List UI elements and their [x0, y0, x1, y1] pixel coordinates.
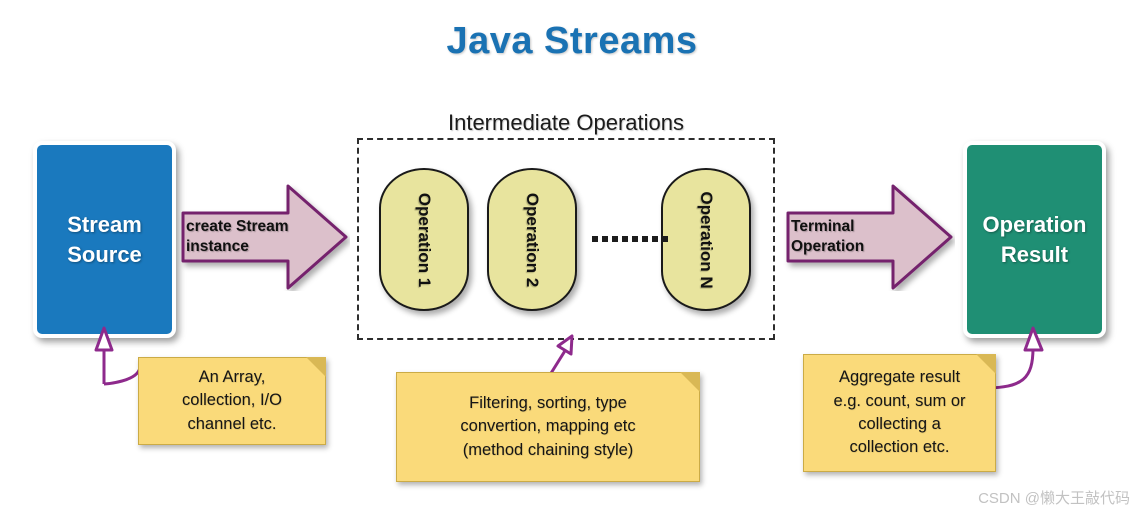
operation-capsule-label: Operation 1: [414, 192, 434, 286]
ellipsis-dot: [632, 236, 638, 242]
watermark: CSDN @懒大王敲代码: [978, 487, 1130, 508]
ellipsis-dot: [642, 236, 648, 242]
sticky-note-intermediate: Filtering, sorting, type convertion, map…: [396, 372, 700, 482]
terminal-operation-arrow-line2: Operation: [791, 237, 909, 257]
note-fold-corner-icon: [976, 354, 996, 374]
ellipsis-dot: [602, 236, 608, 242]
sticky-note-intermediate-text: Filtering, sorting, type convertion, map…: [460, 392, 635, 462]
stream-source-line2: Source: [67, 240, 142, 270]
note-fold-corner-icon: [680, 372, 700, 392]
operation-capsule-label: Operation N: [696, 191, 716, 288]
operation-result-line2: Result: [983, 240, 1087, 270]
note-line: (method chaining style): [460, 439, 635, 462]
create-stream-arrow-line1: create Stream: [186, 217, 304, 237]
operation-capsule-label: Operation 2: [522, 192, 542, 286]
note-line: convertion, mapping etc: [460, 415, 635, 438]
note-line: collecting a: [833, 413, 965, 436]
stream-source-line1: Stream: [67, 210, 142, 240]
ellipsis-dot: [592, 236, 598, 242]
ellipsis-dot: [652, 236, 658, 242]
stream-source-label: Stream Source: [67, 210, 142, 269]
note-line: collection, I/O: [182, 389, 282, 412]
stream-source-box: Stream Source: [33, 141, 176, 338]
diagram-canvas: Java Streams Stream Source create Stream…: [0, 0, 1144, 514]
create-stream-arrow-line2: instance: [186, 237, 304, 257]
operation-capsule: Operation 2: [487, 168, 577, 311]
ellipsis-dots: [592, 236, 668, 242]
note-line: Filtering, sorting, type: [460, 392, 635, 415]
operation-result-line1: Operation: [983, 210, 1087, 240]
create-stream-arrow: create Stream instance: [178, 183, 350, 291]
note-line: An Array,: [182, 366, 282, 389]
note-line: channel etc.: [182, 413, 282, 436]
note-line: e.g. count, sum or: [833, 390, 965, 413]
operation-result-box: Operation Result: [963, 141, 1106, 338]
sticky-note-source: An Array, collection, I/O channel etc.: [138, 357, 326, 445]
terminal-operation-arrow: Terminal Operation: [783, 183, 955, 291]
ellipsis-dot: [612, 236, 618, 242]
create-stream-arrow-label: create Stream instance: [186, 217, 304, 257]
operation-capsule: Operation N: [661, 168, 751, 311]
ellipsis-dot: [622, 236, 628, 242]
operation-result-label: Operation Result: [983, 210, 1087, 269]
page-title: Java Streams: [0, 20, 1144, 63]
terminal-operation-arrow-label: Terminal Operation: [791, 217, 909, 257]
intermediate-operations-label: Intermediate Operations: [357, 110, 775, 136]
sticky-note-result: Aggregate result e.g. count, sum or coll…: [803, 354, 996, 472]
sticky-note-result-text: Aggregate result e.g. count, sum or coll…: [833, 366, 965, 460]
note-fold-corner-icon: [306, 357, 326, 377]
note-line: collection etc.: [833, 436, 965, 459]
ellipsis-dot: [662, 236, 668, 242]
terminal-operation-arrow-line1: Terminal: [791, 217, 909, 237]
note-line: Aggregate result: [833, 366, 965, 389]
operation-capsule: Operation 1: [379, 168, 469, 311]
sticky-note-source-text: An Array, collection, I/O channel etc.: [182, 366, 282, 436]
